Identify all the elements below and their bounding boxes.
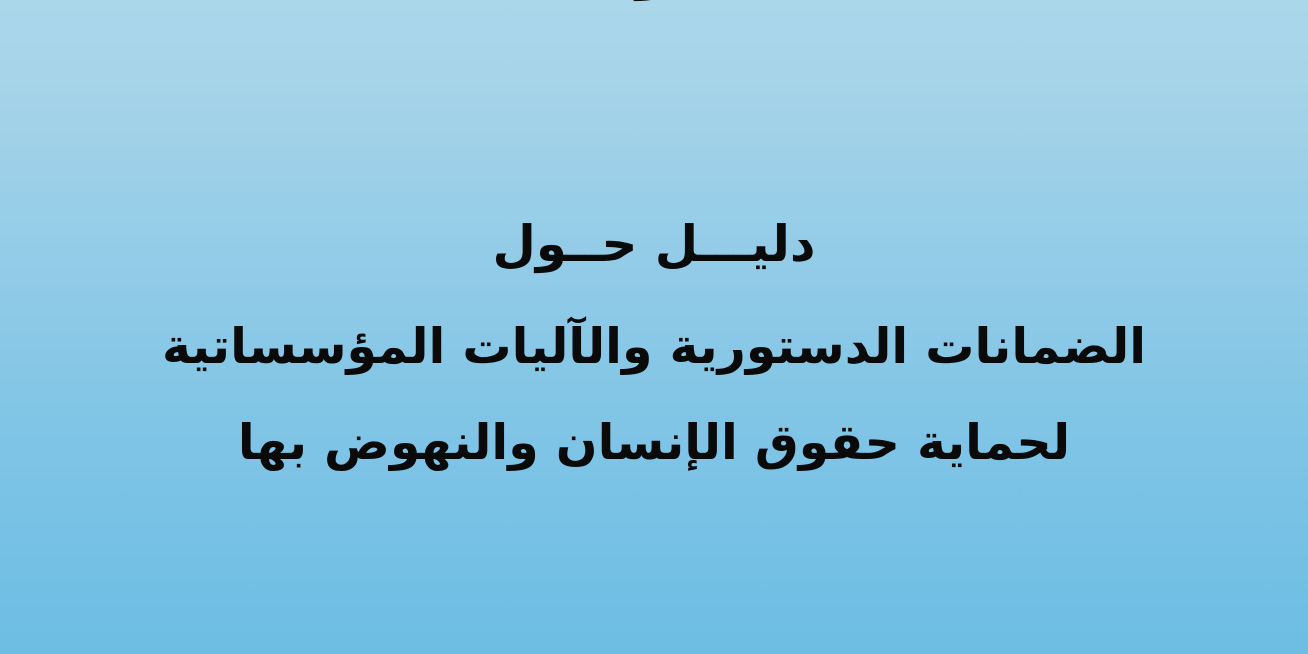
title-line-3: لحماية حقوق الإنسان والنهوض بها: [0, 407, 1308, 479]
title-line-1: دليـــل حــول: [0, 205, 1308, 283]
document-cover-page: و دليـــل حــول الضمانات الدستورية والآل…: [0, 0, 1308, 654]
cover-title-block: دليـــل حــول الضمانات الدستورية والآليا…: [0, 205, 1308, 479]
title-line-2: الضمانات الدستورية والآليات المؤسساتية: [0, 311, 1308, 383]
